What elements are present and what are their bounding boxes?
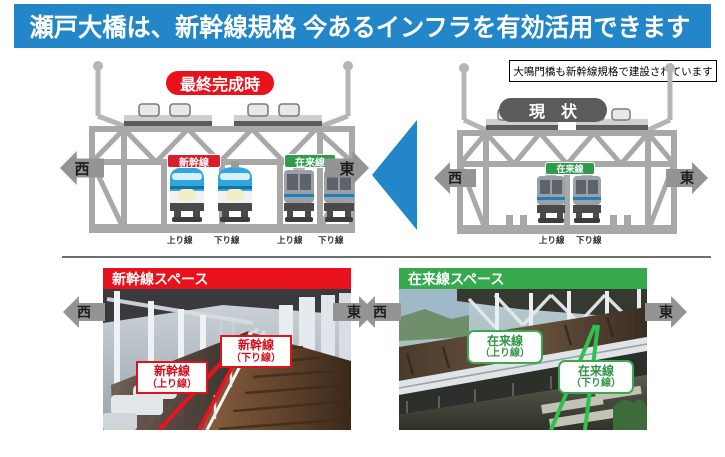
direction-arrow-west-photo-left: 西 — [63, 296, 105, 328]
conventional-space-header-text: 在来線スペース — [399, 269, 504, 289]
truss-structure-right — [460, 133, 674, 231]
line-label-conventional-down-left: 下り線 — [318, 234, 344, 246]
cable-anchor-left-right — [459, 63, 469, 73]
shinkansen-space-header-text: 新幹線スペース — [103, 269, 208, 289]
cable-anchor-left — [93, 61, 103, 71]
direction-arrow-east-photo-right: 東 — [645, 296, 687, 328]
line-label-conventional-down-right: 下り線 — [576, 234, 602, 246]
right-diagram-badge: 現 状 — [499, 98, 607, 122]
conventional-space-header: 在来線スペース — [399, 268, 647, 289]
direction-arrow-east-right: 東 — [666, 162, 708, 194]
rail-deck — [92, 224, 352, 231]
callout-shinkansen-down-line1: 新幹線 — [238, 339, 274, 352]
callout-shinkansen-up-line2: （上り線） — [147, 379, 197, 390]
east-label-left: 東 — [339, 158, 354, 179]
callout-shinkansen-up: 新幹線 （上り線） — [136, 361, 208, 394]
conventional-train-up — [284, 164, 314, 222]
shinkansen-train-down — [218, 161, 252, 222]
callout-conventional-up-line1: 在来線 — [487, 335, 523, 348]
callout-shinkansen-down-line2: （下り線） — [231, 353, 281, 364]
callout-shinkansen-up-line1: 新幹線 — [154, 365, 190, 378]
comparison-arrow-icon — [372, 120, 417, 230]
shinkansen-space-panel: 新幹線スペース — [103, 268, 351, 430]
callout-shinkansen-down: 新幹線 （下り線） — [220, 335, 292, 368]
line-label-shinkansen-up: 上り線 — [167, 234, 193, 246]
title-banner: 瀬戸大橋は、新幹線規格 今あるインフラを有効活用できます — [14, 4, 711, 48]
left-diagram-badge: 最終完成時 — [166, 71, 274, 95]
badge-conventional-right: 在来線 — [545, 162, 595, 175]
west-label-left: 西 — [74, 158, 89, 179]
east-label-photo-left: 東 — [347, 302, 361, 322]
direction-arrow-west-photo-right: 西 — [359, 296, 401, 328]
callout-conventional-down-line2: （下り線） — [571, 378, 621, 389]
badge-shinkansen-left: 新幹線 — [167, 154, 221, 168]
callout-conventional-down: 在来線 （下り線） — [558, 360, 634, 394]
truss-diagonals-right — [460, 133, 674, 164]
highway-vehicles — [139, 104, 299, 116]
conventional-train-down-right — [573, 170, 601, 223]
callout-conventional-up-line2: （上り線） — [480, 348, 530, 359]
direction-arrow-east-left: 東 — [325, 151, 369, 185]
east-label-photo-right: 東 — [659, 302, 673, 322]
cable-anchor-right-right — [665, 63, 675, 73]
page-title: 瀬戸大橋は、新幹線規格 今あるインフラを有効活用できます — [14, 8, 690, 44]
line-label-conventional-up-left: 上り線 — [277, 234, 303, 246]
callout-conventional-up: 在来線 （上り線） — [467, 330, 543, 364]
west-label-photo-left: 西 — [77, 302, 91, 322]
right-bridge-diagram — [434, 58, 704, 254]
conventional-space-panel: 在来線スペース — [399, 268, 647, 430]
shinkansen-space-header: 新幹線スペース — [103, 268, 351, 289]
callout-conventional-down-line1: 在来線 — [578, 365, 614, 378]
bridge-diagram-section: 最終完成時 新幹線 在来線 上り線 下り線 上り線 下り線 西 東 — [62, 58, 710, 254]
cable-anchor-right — [343, 61, 353, 71]
east-label-right: 東 — [680, 168, 694, 188]
rail-deck-right — [460, 225, 674, 232]
direction-arrow-west-right: 西 — [434, 162, 476, 194]
section-divider — [62, 256, 711, 258]
west-label-right: 西 — [448, 168, 462, 188]
direction-arrow-west-left: 西 — [60, 151, 104, 185]
line-label-conventional-up-right: 上り線 — [539, 234, 565, 246]
west-label-photo-right: 西 — [373, 302, 387, 322]
line-label-shinkansen-down: 下り線 — [214, 234, 240, 246]
infographic-page: 瀬戸大橋は、新幹線規格 今あるインフラを有効活用できます 大鳴門橋も新幹線規格で… — [0, 0, 725, 457]
conventional-train-up-right — [537, 170, 565, 223]
shinkansen-train-up — [170, 161, 204, 222]
